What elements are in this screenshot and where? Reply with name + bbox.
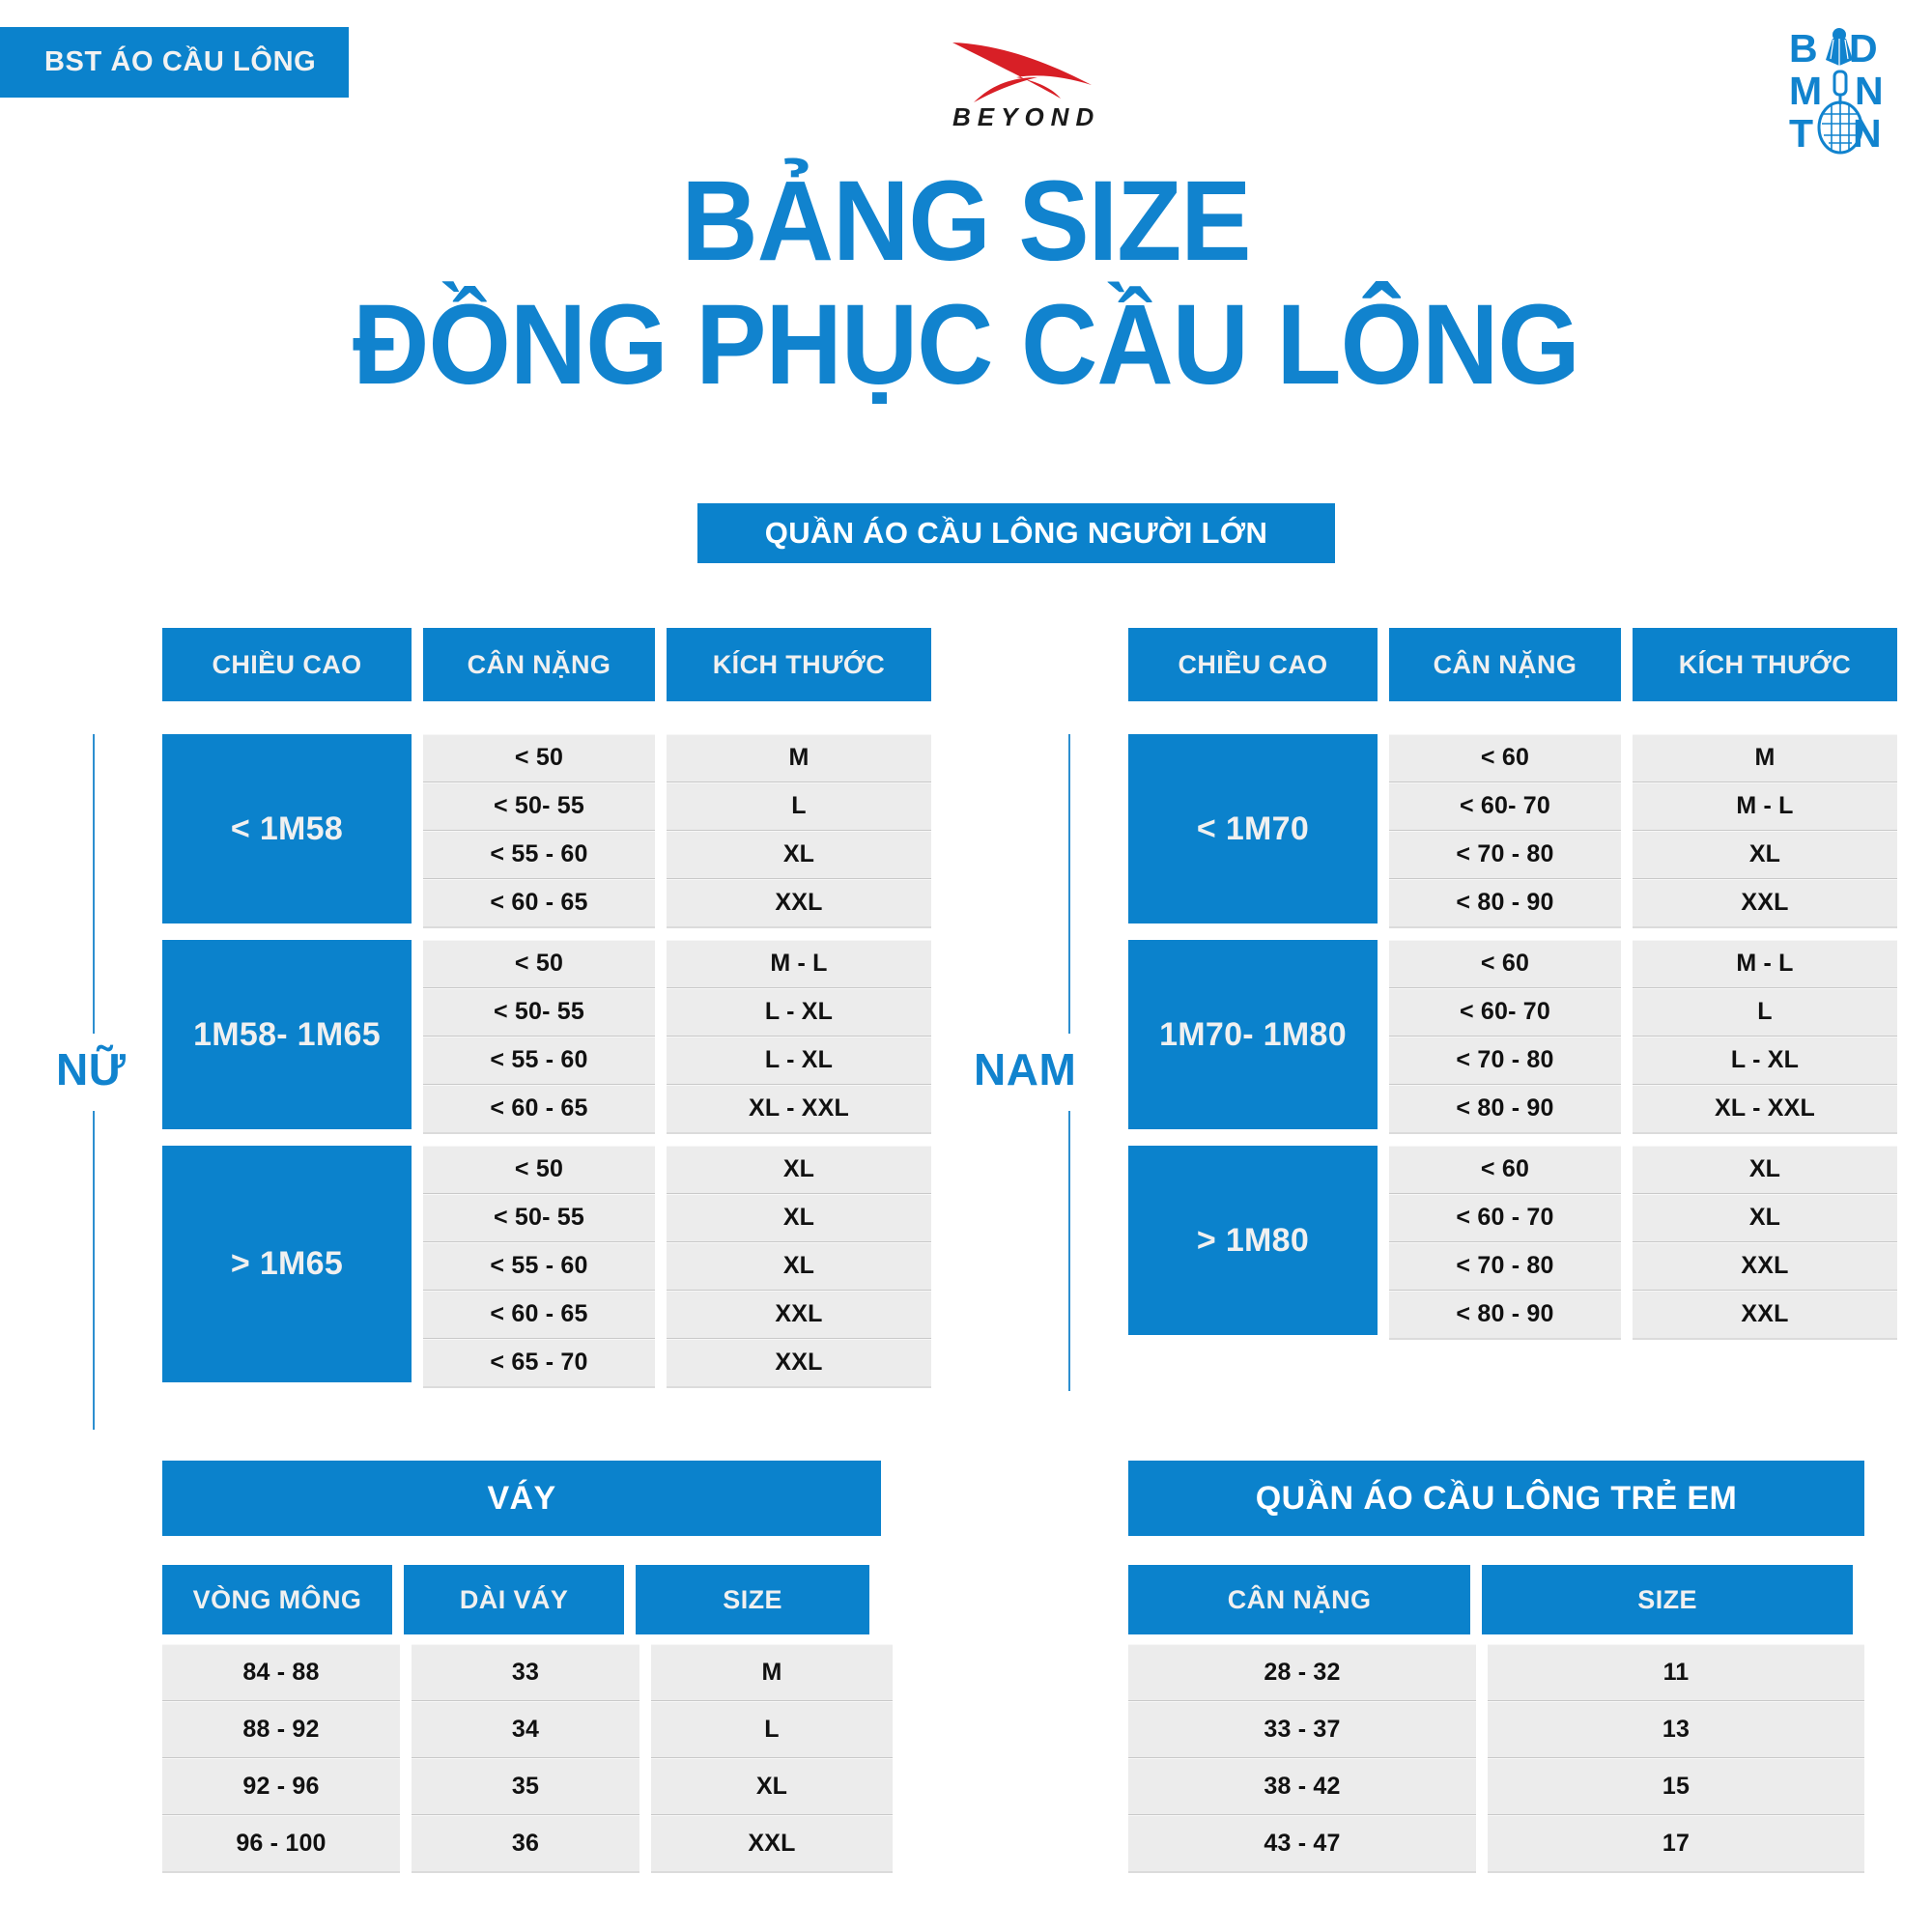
table-cell: L [651, 1701, 893, 1758]
table-cell: XL [667, 831, 931, 879]
female-size-col-2: M - L L - XL L - XL XL - XXL [667, 940, 931, 1132]
table-cell: XL [667, 1194, 931, 1242]
table-cell: < 50 [423, 1146, 655, 1194]
beyond-wordmark: BEYOND [952, 102, 1100, 132]
table-cell: XL - XXL [667, 1085, 931, 1132]
table-cell: L - XL [1633, 1037, 1897, 1085]
title-line-1: BẢNG SIZE [68, 164, 1864, 278]
table-cell: 33 - 37 [1128, 1701, 1476, 1758]
female-group-3: > 1M65 < 50 < 50- 55 < 55 - 60 < 60 - 65… [162, 1146, 943, 1386]
table-cell: M [651, 1644, 893, 1701]
svg-text:B: B [1789, 27, 1818, 71]
table-cell: XXL [667, 1291, 931, 1339]
table-cell: 34 [412, 1701, 639, 1758]
table-cell: < 55 - 60 [423, 831, 655, 879]
female-height-1: < 1M58 [162, 734, 412, 923]
table-cell: < 70 - 80 [1389, 831, 1621, 879]
female-size-col-1: M L XL XXL [667, 734, 931, 926]
male-height-1: < 1M70 [1128, 734, 1378, 923]
svg-text:D: D [1849, 27, 1878, 71]
table-cell: M [667, 734, 931, 782]
table-cell: XXL [667, 1339, 931, 1386]
table-cell: 28 - 32 [1128, 1644, 1476, 1701]
skirt-size-col: M L XL XXL [651, 1644, 893, 1871]
male-size-col-3: XL XL XXL XXL [1633, 1146, 1897, 1338]
table-cell: < 60 - 65 [423, 1291, 655, 1339]
badminton-logo: B D M N T N [1789, 27, 1905, 155]
table-cell: M - L [1633, 940, 1897, 988]
female-group-1: < 1M58 < 50 < 50- 55 < 55 - 60 < 60 - 65… [162, 734, 943, 926]
table-cell: < 50 [423, 734, 655, 782]
badminton-logo-icon: B D M N T N [1789, 27, 1905, 155]
table-cell: 88 - 92 [162, 1701, 400, 1758]
subheader-weight: CÂN NẶNG [1128, 1565, 1470, 1634]
table-cell: XXL [1633, 879, 1897, 926]
kids-size-col: 11 13 15 17 [1488, 1644, 1864, 1871]
table-gap-band [162, 1536, 881, 1565]
table-cell: < 50 [423, 940, 655, 988]
male-group-1: < 1M70 < 60 < 60- 70 < 70 - 80 < 80 - 90… [1128, 734, 1909, 926]
beyond-swoosh-icon [945, 31, 1138, 108]
table-cell: < 60 - 70 [1389, 1194, 1621, 1242]
table-cell: 33 [412, 1644, 639, 1701]
table-cell: XL [667, 1242, 931, 1291]
table-cell: L [667, 782, 931, 831]
female-header-row: CHIỀU CAO CÂN NẶNG KÍCH THƯỚC [0, 628, 943, 701]
skirt-hip-col: 84 - 88 88 - 92 92 - 96 96 - 100 [162, 1644, 400, 1871]
table-cell: 13 [1488, 1701, 1864, 1758]
table-cell: < 60 [1389, 940, 1621, 988]
table-cell: XXL [651, 1815, 893, 1871]
table-cell: M - L [1633, 782, 1897, 831]
table-cell: < 50- 55 [423, 988, 655, 1037]
table-cell: L [1633, 988, 1897, 1037]
female-weight-col-2: < 50 < 50- 55 < 55 - 60 < 60 - 65 [423, 940, 655, 1132]
male-group-3: > 1M80 < 60 < 60 - 70 < 70 - 80 < 80 - 9… [1128, 1146, 1909, 1338]
male-weight-col-1: < 60 < 60- 70 < 70 - 80 < 80 - 90 [1389, 734, 1621, 926]
header-height: CHIỀU CAO [1128, 628, 1378, 701]
gender-label-female: NỮ [56, 1043, 126, 1095]
table-cell: XL [1633, 1146, 1897, 1194]
subheader-size: SIZE [1482, 1565, 1853, 1634]
svg-text:M: M [1789, 69, 1822, 113]
skirt-length-col: 33 34 35 36 [412, 1644, 639, 1871]
subheader-size: SIZE [636, 1565, 869, 1634]
header-weight: CÂN NẶNG [423, 628, 655, 701]
table-cell: 43 - 47 [1128, 1815, 1476, 1871]
male-height-3: > 1M80 [1128, 1146, 1378, 1335]
table-cell: 17 [1488, 1815, 1864, 1871]
male-group-2: 1M70- 1M80 < 60 < 60- 70 < 70 - 80 < 80 … [1128, 940, 1909, 1132]
table-cell: < 80 - 90 [1389, 1291, 1621, 1338]
table-cell: 84 - 88 [162, 1644, 400, 1701]
table-cell: < 80 - 90 [1389, 879, 1621, 926]
table-cell: M [1633, 734, 1897, 782]
table-cell: XL [1633, 1194, 1897, 1242]
header-height: CHIỀU CAO [162, 628, 412, 701]
table-cell: 11 [1488, 1644, 1864, 1701]
page-title: BẢNG SIZE ĐỒNG PHỤC CẦU LÔNG [0, 164, 1932, 412]
table-cell: < 60- 70 [1389, 988, 1621, 1037]
table-cell: < 60 [1389, 1146, 1621, 1194]
svg-text:T: T [1789, 111, 1813, 155]
skirt-table-body: 84 - 88 88 - 92 92 - 96 96 - 100 33 34 3… [162, 1644, 881, 1871]
table-cell: XL [1633, 831, 1897, 879]
male-weight-col-2: < 60 < 60- 70 < 70 - 80 < 80 - 90 [1389, 940, 1621, 1132]
table-cell: 38 - 42 [1128, 1758, 1476, 1815]
table-cell: < 60- 70 [1389, 782, 1621, 831]
kids-table-body: 28 - 32 33 - 37 38 - 42 43 - 47 11 13 15… [1128, 1644, 1864, 1871]
table-cell: XXL [667, 879, 931, 926]
female-group-2: 1M58- 1M65 < 50 < 50- 55 < 55 - 60 < 60 … [162, 940, 943, 1132]
gender-label-male: NAM [974, 1043, 1076, 1095]
table-cell: 36 [412, 1815, 639, 1871]
title-line-2: ĐỒNG PHỤC CẦU LÔNG [68, 278, 1864, 412]
table-cell: < 50- 55 [423, 1194, 655, 1242]
male-height-2: 1M70- 1M80 [1128, 940, 1378, 1129]
kids-table-title: QUẦN ÁO CẦU LÔNG TRẺ EM [1128, 1461, 1864, 1536]
table-cell: < 70 - 80 [1389, 1242, 1621, 1291]
female-weight-col-1: < 50 < 50- 55 < 55 - 60 < 60 - 65 [423, 734, 655, 926]
table-cell: 96 - 100 [162, 1815, 400, 1871]
table-cell: < 60 - 65 [423, 879, 655, 926]
table-cell: XL - XXL [1633, 1085, 1897, 1132]
table-cell: < 55 - 60 [423, 1037, 655, 1085]
male-header-row: CHIỀU CAO CÂN NẶNG KÍCH THƯỚC [1005, 628, 1909, 701]
header-size: KÍCH THƯỚC [667, 628, 931, 701]
table-cell: < 80 - 90 [1389, 1085, 1621, 1132]
table-cell: < 70 - 80 [1389, 1037, 1621, 1085]
bst-collection-badge: BST ÁO CẦU LÔNG [0, 27, 349, 98]
female-weight-col-3: < 50 < 50- 55 < 55 - 60 < 60 - 65 < 65 -… [423, 1146, 655, 1386]
table-cell: L - XL [667, 988, 931, 1037]
header-size: KÍCH THƯỚC [1633, 628, 1897, 701]
table-cell: XL [651, 1758, 893, 1815]
skirt-table-title: VÁY [162, 1461, 881, 1536]
female-size-col-3: XL XL XL XXL XXL [667, 1146, 931, 1386]
size-chart-page: BST ÁO CẦU LÔNG BEYOND B D M N T N [0, 0, 1932, 1932]
table-cell: XXL [1633, 1242, 1897, 1291]
kids-subheader-row: CÂN NẶNG SIZE [1128, 1565, 1864, 1634]
female-height-3: > 1M65 [162, 1146, 412, 1382]
table-cell: XL [667, 1146, 931, 1194]
table-cell: 92 - 96 [162, 1758, 400, 1815]
table-cell: M - L [667, 940, 931, 988]
kids-weight-col: 28 - 32 33 - 37 38 - 42 43 - 47 [1128, 1644, 1476, 1871]
table-cell: 15 [1488, 1758, 1864, 1815]
female-height-2: 1M58- 1M65 [162, 940, 412, 1129]
table-cell: XXL [1633, 1291, 1897, 1338]
header-weight: CÂN NẶNG [1389, 628, 1621, 701]
male-size-col-1: M M - L XL XXL [1633, 734, 1897, 926]
table-cell: < 55 - 60 [423, 1242, 655, 1291]
svg-text:N: N [1853, 111, 1882, 155]
table-cell: < 60 [1389, 734, 1621, 782]
skirt-subheader-row: VÒNG MÔNG DÀI VÁY SIZE [162, 1565, 881, 1634]
table-cell: < 65 - 70 [423, 1339, 655, 1386]
male-size-col-2: M - L L L - XL XL - XXL [1633, 940, 1897, 1132]
skirt-size-table: VÁY VÒNG MÔNG DÀI VÁY SIZE 84 - 88 88 - … [162, 1461, 881, 1871]
kids-size-table: QUẦN ÁO CẦU LÔNG TRẺ EM CÂN NẶNG SIZE 28… [1128, 1461, 1864, 1871]
subheader-hip: VÒNG MÔNG [162, 1565, 392, 1634]
table-cell: L - XL [667, 1037, 931, 1085]
male-weight-col-3: < 60 < 60 - 70 < 70 - 80 < 80 - 90 [1389, 1146, 1621, 1338]
table-cell: < 50- 55 [423, 782, 655, 831]
table-cell: 35 [412, 1758, 639, 1815]
svg-text:N: N [1855, 69, 1884, 113]
beyond-brand-logo: BEYOND [945, 31, 1138, 137]
subheader-length: DÀI VÁY [404, 1565, 624, 1634]
table-gap-band [1128, 1536, 1864, 1565]
adult-section-subtitle: QUẦN ÁO CẦU LÔNG NGƯỜI LỚN [697, 503, 1335, 563]
table-cell: < 60 - 65 [423, 1085, 655, 1132]
